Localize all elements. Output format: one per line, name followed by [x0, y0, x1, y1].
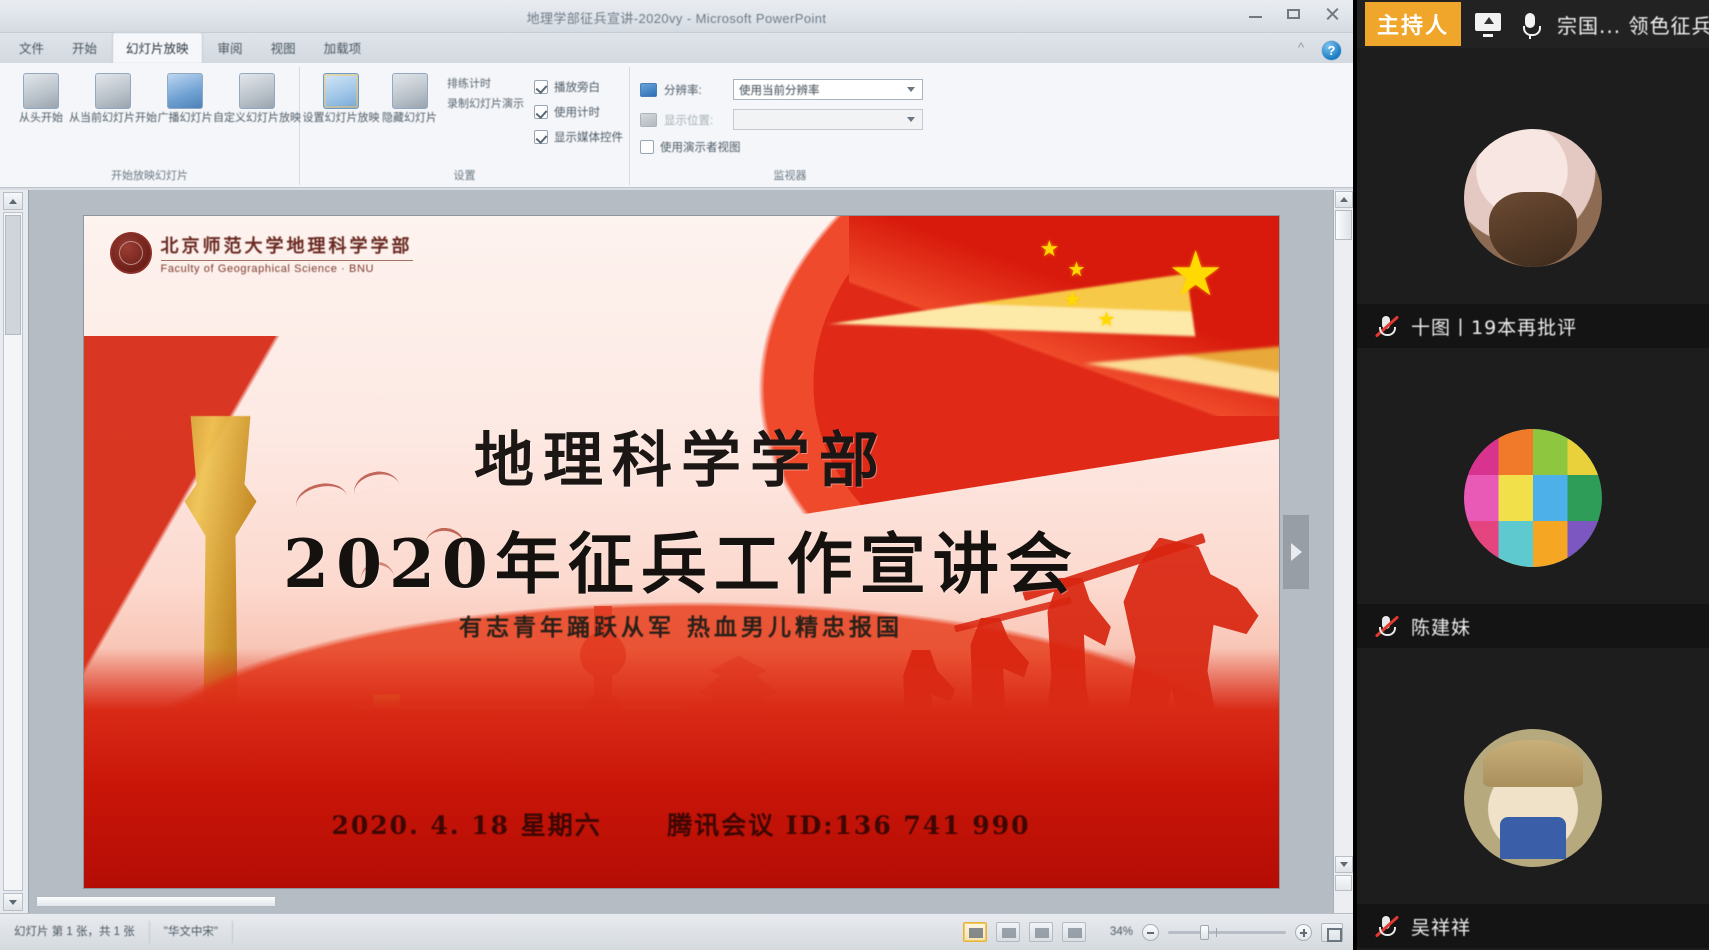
star-icon-4: ★ [1098, 310, 1116, 330]
zoom-percent-label[interactable]: 34% [1095, 926, 1133, 938]
university-seal-icon [110, 232, 152, 274]
from-current-button[interactable]: 从当前幻灯片开始 [82, 73, 144, 125]
participant-name-bar-2: 陈建妹 [1357, 604, 1709, 648]
tab-addins[interactable]: 加载项 [311, 33, 375, 63]
broadcast-label: 广播幻灯片 [158, 112, 213, 125]
custom-show-button[interactable]: 自定义幻灯片放映 [226, 73, 288, 125]
decor-bottom-red [84, 648, 1279, 888]
previous-slide-button[interactable] [1335, 875, 1352, 891]
hide-slide-icon [392, 73, 428, 109]
play-narrations-label: 播放旁白 [554, 79, 600, 95]
participant-avatar-1 [1464, 129, 1602, 267]
participant-tile-1[interactable]: 十图丨19本再批评 [1357, 48, 1709, 348]
participant-name-1: 十图丨19本再批评 [1411, 313, 1577, 340]
participant-tile-3[interactable]: 吴祥祥 [1357, 648, 1709, 948]
ribbon-tab-strip: 文件 开始 幻灯片放映 审阅 视图 加载项 ? [0, 33, 1353, 63]
star-icon-big: ★ [1168, 244, 1224, 306]
powerpoint-window: 地理学部征兵宣讲-2020vy - Microsoft PowerPoint 文… [0, 0, 1353, 950]
slide-footer-meeting-id: 腾讯会议 ID:136 741 990 [667, 811, 1030, 840]
zoom-in-icon[interactable] [1295, 924, 1312, 941]
participant-avatar-2 [1464, 429, 1602, 567]
view-normal-button[interactable] [963, 922, 987, 942]
zoom-slider-thumb[interactable] [1200, 925, 1209, 940]
help-icon[interactable]: ? [1322, 41, 1341, 60]
slide-horizontal-scrollbar[interactable] [36, 896, 276, 907]
group-monitors-label: 监视器 [630, 167, 950, 183]
resolution-select[interactable]: 使用当前分辨率 [733, 79, 923, 100]
resolution-row: 分辨率: 使用当前分辨率 [640, 79, 940, 100]
slide-title-line-2: 2020年征兵工作宣讲会 [84, 511, 1279, 607]
status-theme-label[interactable]: "华文中宋" [150, 921, 233, 943]
university-logo: 北京师范大学地理科学学部 Faculty of Geographical Sci… [110, 232, 413, 275]
ribbon-right-controls: ? [1295, 41, 1341, 60]
meeting-host-bar: 主持人 宗国... 领色征兵宣讲 [1357, 0, 1709, 48]
tab-review[interactable]: 审阅 [205, 33, 256, 63]
show-media-controls-checkbox-box [534, 130, 548, 144]
status-slide-indicator[interactable]: 幻灯片 第 1 张，共 1 张 [0, 921, 150, 943]
view-slideshow-button[interactable] [1062, 922, 1086, 942]
display-on-select[interactable] [733, 109, 923, 130]
maximize-button[interactable] [1283, 6, 1305, 22]
resolution-value: 使用当前分辨率 [739, 82, 820, 98]
from-beginning-icon [23, 73, 59, 109]
share-screen-icon[interactable] [1473, 9, 1503, 39]
presenter-view-label: 使用演示者视图 [660, 139, 741, 155]
university-name-en: Faculty of Geographical Science · BNU [161, 263, 413, 275]
tab-file[interactable]: 文件 [6, 33, 57, 63]
tab-slideshow[interactable]: 幻灯片放映 [112, 32, 203, 63]
host-badge: 主持人 [1365, 2, 1461, 46]
from-beginning-button[interactable]: 从头开始 [10, 73, 72, 125]
broadcast-button[interactable]: 广播幻灯片 [154, 73, 216, 125]
setup-show-button[interactable]: 设置幻灯片放映 [310, 73, 372, 125]
title-bar: 地理学部征兵宣讲-2020vy - Microsoft PowerPoint [0, 0, 1353, 33]
close-button[interactable] [1321, 6, 1343, 22]
slide-stage: ★ ★ ★ ★ ★ [29, 190, 1333, 913]
vertical-scrollbar-thumb[interactable] [1335, 210, 1352, 240]
university-logo-text: 北京师范大学地理科学学部 Faculty of Geographical Sci… [161, 232, 413, 275]
participant-name-bar-3: 吴祥祥 [1357, 904, 1709, 948]
chevron-down-icon[interactable] [903, 80, 919, 99]
status-right-controls: 34% [963, 922, 1353, 942]
decor-stars: ★ ★ ★ ★ ★ [1034, 234, 1224, 344]
slide-title-block: 地理科学学部 2020年征兵工作宣讲会 [84, 412, 1279, 607]
group-setup-label: 设置 [300, 167, 629, 183]
record-narration-button[interactable]: 录制幻灯片演示 [447, 95, 524, 111]
minimize-button[interactable] [1245, 6, 1267, 22]
broadcast-icon [167, 73, 203, 109]
status-bar: 幻灯片 第 1 张，共 1 张 "华文中宋" 34% [0, 913, 1353, 950]
university-name-cn: 北京师范大学地理科学学部 [161, 232, 413, 258]
hide-slide-button[interactable]: 隐藏幻灯片 [382, 73, 437, 125]
setup-show-icon [323, 73, 359, 109]
participant-tile-2[interactable]: 陈建妹 [1357, 348, 1709, 648]
group-start-slideshow-label: 开始放映幻灯片 [0, 167, 299, 183]
fit-slide-to-window-button[interactable] [1321, 923, 1343, 942]
tab-home[interactable]: 开始 [59, 33, 110, 63]
display-on-icon [640, 113, 657, 127]
mic-muted-icon-2[interactable] [1373, 613, 1399, 639]
play-narrations-checkbox-box [534, 80, 548, 94]
use-timings-checkbox-box [534, 105, 548, 119]
scroll-up-icon[interactable] [1335, 191, 1353, 208]
window-controls [1245, 6, 1343, 22]
collapse-ribbon-icon[interactable] [1295, 43, 1310, 58]
display-on-row: 显示位置: [640, 109, 940, 130]
play-narrations-checkbox[interactable]: 播放旁白 [534, 79, 623, 95]
zoom-slider-tick [1216, 928, 1217, 937]
slide-canvas[interactable]: ★ ★ ★ ★ ★ [84, 216, 1279, 888]
slide-subtitle: 有志青年踊跃从军 热血男儿精忠报国 [84, 608, 1279, 642]
view-reading-button[interactable] [1029, 922, 1053, 942]
use-timings-checkbox[interactable]: 使用计时 [534, 104, 623, 120]
chevron-down-icon-2[interactable] [903, 110, 919, 129]
presenter-view-checkbox[interactable]: 使用演示者视图 [640, 139, 940, 155]
slide-footer-date: 2020. 4. 18 星期六 [331, 811, 601, 840]
zoom-out-icon[interactable] [1142, 924, 1159, 941]
logo-divider [161, 260, 413, 261]
rehearse-timings-button[interactable]: 排练计时 [447, 75, 524, 91]
microphone-icon[interactable] [1515, 9, 1545, 39]
group-start-slideshow: 从头开始 从当前幻灯片开始 广播幻灯片 自定义幻灯片放映 开始 [0, 67, 300, 185]
mic-muted-icon-3[interactable] [1373, 913, 1399, 939]
participant-name-bar-1: 十图丨19本再批评 [1357, 304, 1709, 348]
show-media-controls-checkbox[interactable]: 显示媒体控件 [534, 129, 623, 145]
edit-area: ✕ ★ ★ ★ ★ ★ [0, 190, 1353, 913]
pane-scroll-down-icon[interactable] [3, 893, 23, 911]
participant-name-3: 吴祥祥 [1411, 913, 1471, 940]
from-beginning-label: 从头开始 [19, 112, 63, 125]
ribbon-body: 从头开始 从当前幻灯片开始 广播幻灯片 自定义幻灯片放映 开始 [0, 63, 1353, 188]
resolution-label: 分辨率: [664, 82, 726, 98]
tab-view[interactable]: 视图 [258, 33, 309, 63]
star-icon-3: ★ [1064, 290, 1082, 310]
presenter-view-checkbox-box [640, 140, 654, 154]
star-icon-2: ★ [1068, 260, 1086, 280]
use-timings-label: 使用计时 [554, 104, 600, 120]
next-slide-button[interactable] [1283, 515, 1309, 589]
screen-root: 地理学部征兵宣讲-2020vy - Microsoft PowerPoint 文… [0, 0, 1709, 950]
slide-footer: 2020. 4. 18 星期六 腾讯会议 ID:136 741 990 [84, 806, 1279, 842]
pane-scroll-up-icon[interactable] [3, 192, 23, 210]
slides-thumbnail-pane: ✕ [0, 190, 29, 913]
custom-show-icon [239, 73, 275, 109]
zoom-slider[interactable] [1168, 931, 1286, 934]
view-slide-sorter-button[interactable] [996, 922, 1020, 942]
pane-scrollbar-thumb[interactable] [5, 215, 21, 335]
slide-title-line-1: 地理科学学部 [84, 412, 1279, 499]
participant-avatar-3 [1464, 729, 1602, 867]
setup-show-label: 设置幻灯片放映 [303, 112, 380, 125]
custom-show-label: 自定义幻灯片放映 [213, 112, 301, 125]
participant-name-2: 陈建妹 [1411, 613, 1471, 640]
window-title: 地理学部征兵宣讲-2020vy - Microsoft PowerPoint [0, 8, 1353, 27]
scroll-down-icon[interactable] [1335, 856, 1353, 873]
host-name-label: 宗国... 领色征兵宣讲 [1557, 10, 1709, 39]
group-setup: 设置幻灯片放映 隐藏幻灯片 排练计时 录制幻灯片演示 播放旁白 [300, 67, 630, 185]
pane-scrollbar[interactable] [3, 212, 23, 891]
setup-checkbox-list: 播放旁白 使用计时 显示媒体控件 [534, 73, 623, 145]
meeting-panel: 主持人 宗国... 领色征兵宣讲 十图丨19本再批评 陈建妹 吴祥祥 [1353, 0, 1709, 950]
mic-muted-icon-1[interactable] [1373, 313, 1399, 339]
group-monitors: 分辨率: 使用当前分辨率 显示位置: [630, 67, 950, 185]
display-on-label: 显示位置: [664, 112, 726, 128]
show-media-controls-label: 显示媒体控件 [554, 129, 623, 145]
hide-slide-label: 隐藏幻灯片 [382, 112, 437, 125]
from-current-icon [95, 73, 131, 109]
slide-vertical-scrollbar[interactable] [1333, 190, 1353, 913]
resolution-icon [640, 83, 657, 97]
from-current-label: 从当前幻灯片开始 [69, 112, 157, 125]
star-icon-1: ★ [1040, 238, 1060, 260]
